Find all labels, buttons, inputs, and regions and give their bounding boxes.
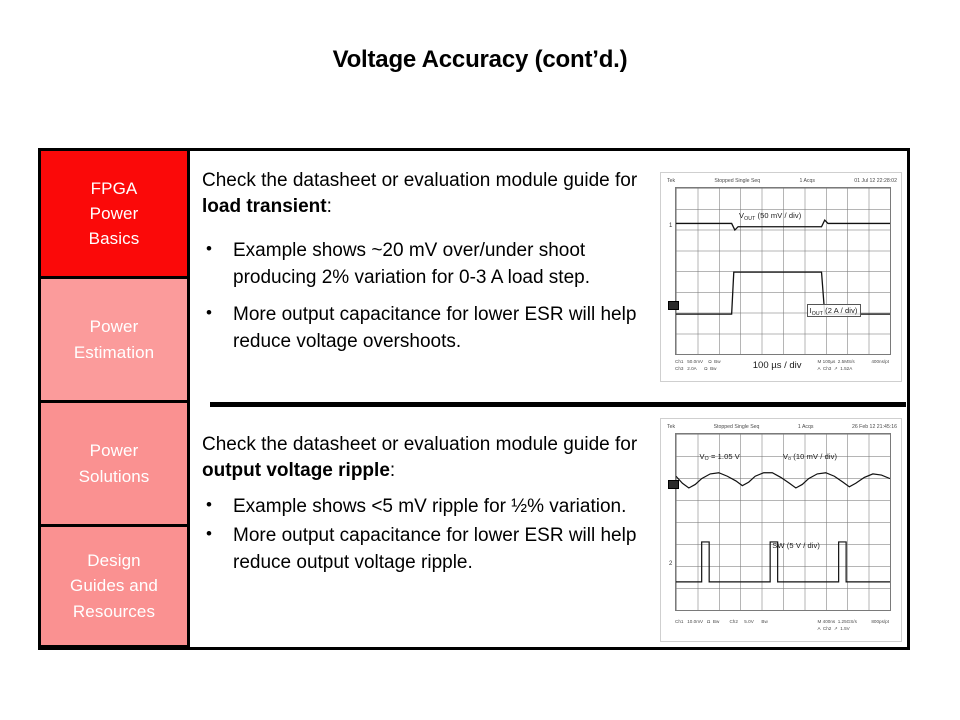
scope-label-vout: VOUT (50 mV / div) [739,211,801,220]
scope-brand: Tek [667,424,675,430]
scope-date: 01 Jul 12 22:28:02 [854,178,897,184]
list-item: More output capacitance for lower ESR wi… [202,523,654,577]
output-ripple-lead: Check the datasheet or evaluation module… [202,432,654,484]
scope-trigger-settings: M 100µs 2.5MS/s A Ch3 ↗ 1.52A [818,359,855,373]
channel-1-level-tick: 1 [669,223,672,229]
sidebar-item-design-guides-and-resources[interactable]: Design Guides and Resources [38,524,190,648]
output-ripple-text: Check the datasheet or evaluation module… [202,432,654,577]
load-transient-text: Check the datasheet or evaluation module… [202,168,654,356]
output-ripple-bullets: Example shows <5 mV ripple for ½% variat… [202,494,654,577]
list-item: Example shows ~20 mV over/under shoot pr… [202,238,654,292]
iout-scale: (2 A / div) [823,306,858,315]
scope-image-output-ripple: Tek Stopped Single Seq 1 Acqs 26 Feb 12 … [660,418,902,642]
channel-2-level-tick: 2 [669,561,672,567]
sidebar-item-power-solutions[interactable]: Power Solutions [38,400,190,524]
scope-graticule: 2 VO = 1.05 V Vo (10 mV / div) SW (5 V /… [675,433,891,611]
scope-sample-rate: 800ps/pt [871,619,889,624]
scope-label-iout: IOUT (2 A / div) [807,304,861,317]
vo-scale-subscript: o [788,456,791,462]
scope-timebase: 100 µs / div [753,360,802,371]
load-transient-lead: Check the datasheet or evaluation module… [202,168,654,220]
scope-status: Stopped Single Seq [714,178,760,184]
page-title: Voltage Accuracy (cont’d.) [0,46,960,74]
scope-label-sw: SW (5 V / div) [772,541,820,550]
main-content: Check the datasheet or evaluation module… [190,148,910,650]
output-ripple-section: Check the datasheet or evaluation module… [190,414,910,650]
lead-suffix: : [327,196,332,217]
lead-prefix: Check the datasheet or evaluation module… [202,434,637,455]
vo-scale-value: (10 mV / div) [791,452,837,461]
vout-scale: (50 mV / div) [755,211,801,220]
scope-status: Stopped Single Seq [714,424,760,430]
lead-suffix: : [390,460,395,481]
lead-prefix: Check the datasheet or evaluation module… [202,170,637,191]
scope-channel-settings: Ch1 50.0mV Ω Bw Ch3 2.0A Ω Bw [675,359,721,373]
sidebar-item-label: Design Guides and Resources [70,548,158,623]
scope-channel-settings: Ch1 10.0mV Ω Bw Ch2 5.0V Bw [675,619,768,626]
list-item: More output capacitance for lower ESR wi… [202,302,654,356]
vout-subscript: OUT [744,216,755,222]
lead-bold: load transient [202,196,327,217]
scope-footer: Ch1 50.0mV Ω Bw Ch3 2.0A Ω Bw 100 µs / d… [675,358,891,378]
lead-bold: output voltage ripple [202,460,390,481]
scope-label-vo-value: VO = 1.05 V [700,452,740,461]
sidebar-item-label: Power Estimation [74,314,154,364]
scope-brand: Tek [667,178,675,184]
vo-symbol: V [700,452,705,461]
sidebar-item-label: FPGA Power Basics [89,176,140,251]
scope-acqs: 1 Acqs [798,424,814,430]
scope-date: 26 Feb 12 21:45:16 [852,424,897,430]
scope-acqs: 1 Acqs [799,178,815,184]
sidebar: FPGA Power Basics Power Estimation Power… [38,148,190,648]
vo-value: = 1.05 V [709,452,740,461]
scope-image-load-transient: Tek Stopped Single Seq 1 Acqs 01 Jul 12 … [660,172,902,382]
section-divider [210,402,906,407]
scope-label-vo-scale: Vo (10 mV / div) [783,452,837,461]
sidebar-item-power-estimation[interactable]: Power Estimation [38,276,190,400]
scope-trigger-settings: M 400ns 1.25GS/s A Ch2 ↗ 1.5V [818,619,857,633]
load-transient-bullets: Example shows ~20 mV over/under shoot pr… [202,238,654,356]
scope-graticule: 1 VOUT (50 mV / div) IOUT (2 A / div) [675,187,891,355]
vo-subscript: O [705,456,709,462]
list-item: Example shows <5 mV ripple for ½% variat… [202,494,654,521]
scope-header: Tek Stopped Single Seq 1 Acqs 26 Feb 12 … [667,422,897,431]
sidebar-item-fpga-power-basics[interactable]: FPGA Power Basics [38,148,190,276]
scope-footer: Ch1 10.0mV Ω Bw Ch2 5.0V Bw M 400ns 1.25… [675,618,891,638]
sidebar-item-label: Power Solutions [79,438,150,488]
load-transient-section: Check the datasheet or evaluation module… [190,148,910,404]
iout-subscript: OUT [812,311,823,317]
scope-sample-rate: 400ns/pt [871,359,889,364]
scope-header: Tek Stopped Single Seq 1 Acqs 01 Jul 12 … [667,176,897,185]
